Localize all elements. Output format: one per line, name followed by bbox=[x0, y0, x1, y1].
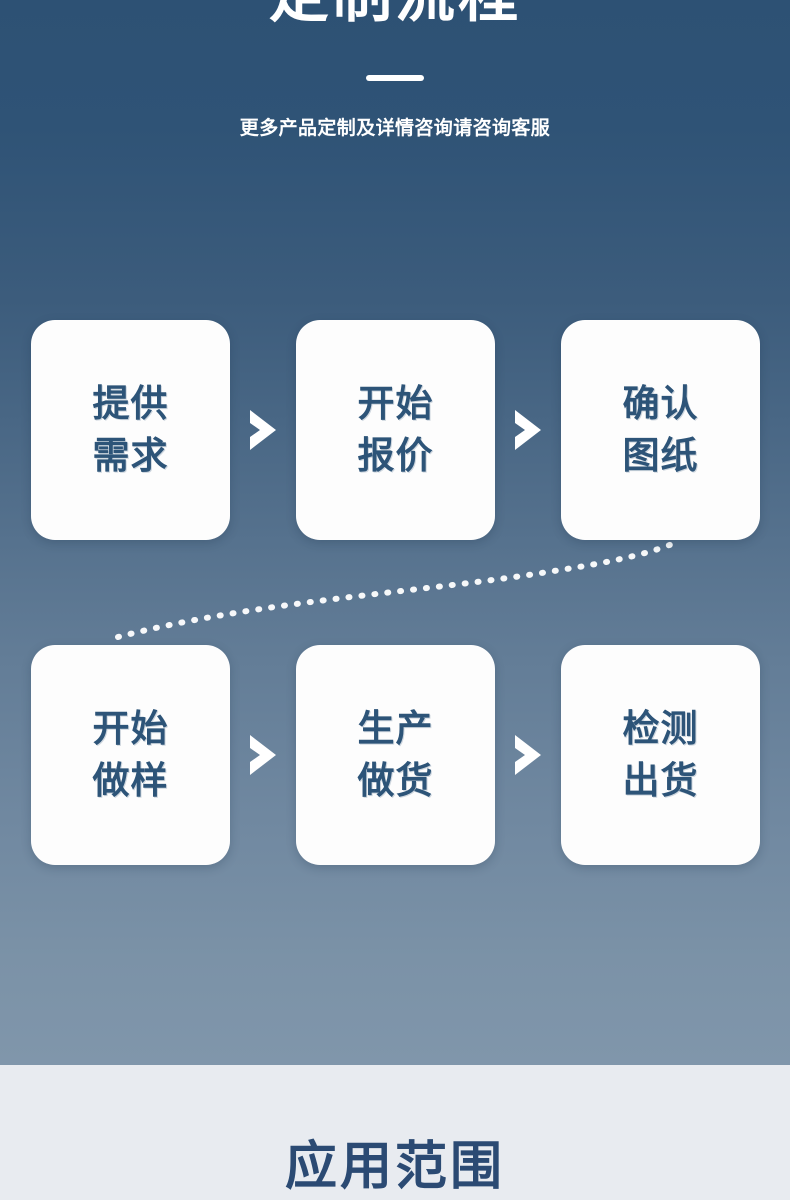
application-scope-section: 应用范围 bbox=[0, 1065, 790, 1200]
chevron-right-icon bbox=[495, 320, 561, 540]
flow-step-card-4[interactable]: 开始 做样 bbox=[31, 645, 230, 865]
flow-step-card-3[interactable]: 确认 图纸 bbox=[561, 320, 760, 540]
flow-step-label: 检测 出货 bbox=[623, 703, 699, 807]
flow-step-label: 确认 图纸 bbox=[623, 378, 699, 482]
flow-step-card-5[interactable]: 生产 做货 bbox=[296, 645, 495, 865]
section-subtitle: 更多产品定制及详情咨询请咨询客服 bbox=[0, 116, 790, 142]
flow-step-label: 生产 做货 bbox=[358, 703, 434, 807]
chevron-right-icon bbox=[230, 320, 296, 540]
flow-step-label: 提供 需求 bbox=[93, 378, 169, 482]
flow-row-2: 开始 做样 生产 做货 检测 出货 bbox=[31, 645, 760, 865]
product-detail-page: 定制流程 更多产品定制及详情咨询请咨询客服 提供 需求 开始 报价 bbox=[0, 0, 790, 1200]
flow-step-card-2[interactable]: 开始 报价 bbox=[296, 320, 495, 540]
flow-step-label: 开始 报价 bbox=[358, 378, 434, 482]
custom-process-section: 定制流程 更多产品定制及详情咨询请咨询客服 提供 需求 开始 报价 bbox=[0, 0, 790, 1065]
flow-row-1: 提供 需求 开始 报价 确认 图纸 bbox=[31, 320, 760, 540]
title-divider bbox=[366, 75, 424, 81]
application-scope-title: 应用范围 bbox=[0, 1133, 790, 1200]
flow-step-card-6[interactable]: 检测 出货 bbox=[561, 645, 760, 865]
chevron-right-icon bbox=[495, 645, 561, 865]
chevron-right-icon bbox=[230, 645, 296, 865]
flow-step-label: 开始 做样 bbox=[93, 703, 169, 807]
flow-step-card-1[interactable]: 提供 需求 bbox=[31, 320, 230, 540]
page-title: 定制流程 bbox=[0, 0, 790, 34]
